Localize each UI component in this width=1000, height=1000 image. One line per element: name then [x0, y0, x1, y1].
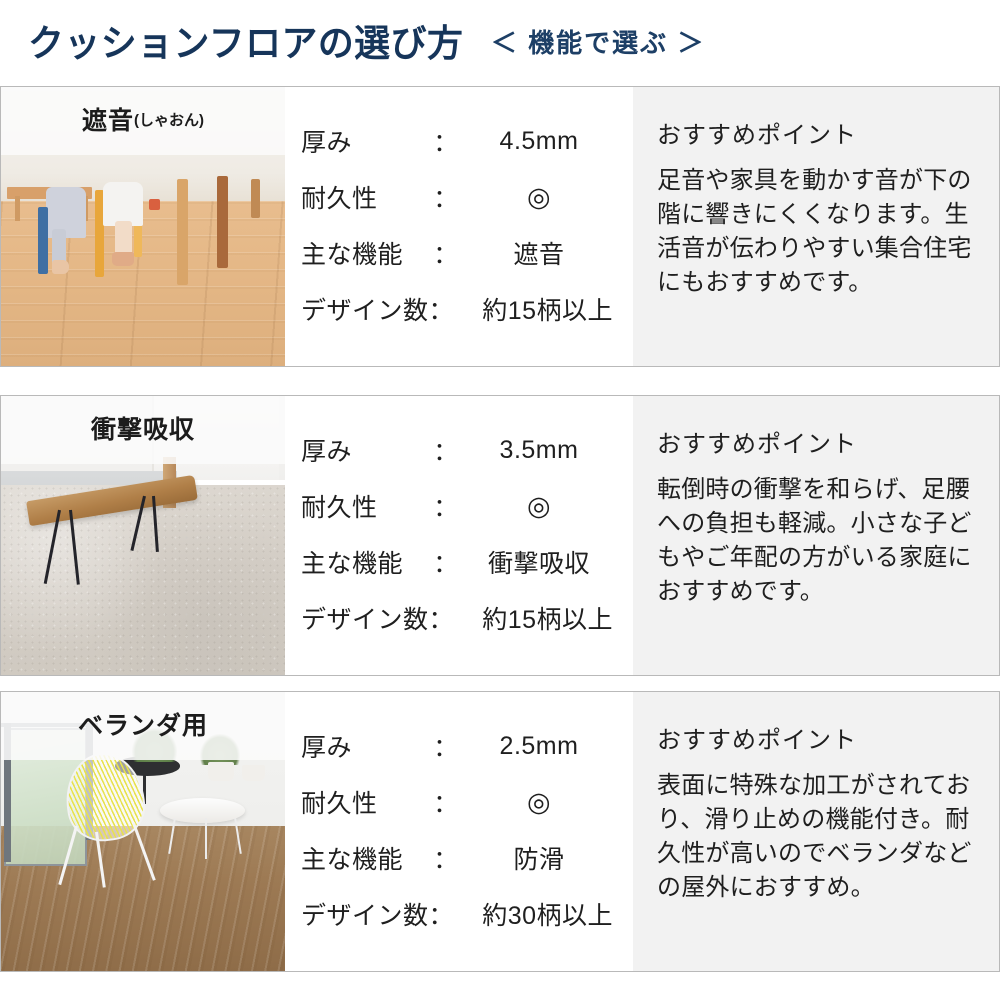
child-foot-right	[112, 252, 135, 266]
spec-value-design-count: 約30柄以上	[454, 896, 617, 932]
spec-colon: ：	[431, 235, 461, 271]
recommendation-body: 表面に特殊な加工がされており、滑り止めの機能付き。耐久性が高いのでベランダなどの…	[657, 769, 973, 905]
recommendation-title: おすすめポイント	[657, 115, 973, 150]
spec-row-durability: 耐久性 ： ◎	[301, 774, 617, 830]
spec-value-main-function: 防滑	[461, 840, 617, 876]
spec-key-thickness: 厚み	[301, 728, 431, 764]
spec-list-veranda: 厚み ： 2.5mm 耐久性 ： ◎ 主な機能 ： 防滑 デザイン数 ： 約30…	[285, 692, 633, 971]
recommendation-body: 転倒時の衝撃を和らげ、足腰への負担も軽減。小さな子どもやご年配の方がいる家庭にお…	[657, 473, 973, 609]
spec-colon: ：	[429, 600, 455, 636]
spec-key-design-count: デザイン数	[301, 600, 429, 636]
plant-pot	[208, 762, 234, 782]
table-leg	[177, 179, 188, 285]
card-label-band: 遮音 (しゃおん)	[1, 87, 285, 155]
card-photo-veranda: ベランダ用	[1, 692, 285, 971]
spec-row-main-function: 主な機能 ： 衝撃吸収	[301, 534, 617, 590]
page-header: クッションフロアの選び方 ＜ 機能で選ぶ ＞	[0, 0, 1000, 86]
recommendation-title: おすすめポイント	[657, 424, 973, 459]
spec-key-main-function: 主な機能	[301, 840, 431, 876]
spec-value-thickness: 2.5mm	[461, 732, 617, 761]
double-circle-icon: ◎	[461, 789, 617, 816]
red-object	[149, 199, 160, 210]
card-label-band: 衝撃吸収	[1, 396, 285, 464]
double-circle-icon: ◎	[461, 184, 617, 211]
round-table-leg	[205, 818, 207, 860]
child-foot-left	[52, 260, 69, 274]
spec-list-shaon: 厚み ： 4.5mm 耐久性 ： ◎ 主な機能 ： 遮音 デザイン数 ： 約15…	[285, 87, 633, 366]
spec-value-thickness: 4.5mm	[461, 127, 617, 156]
spec-row-thickness: 厚み ： 3.5mm	[301, 422, 617, 478]
spec-colon: ：	[431, 123, 461, 159]
table-leg	[217, 176, 228, 268]
spec-value-design-count: 約15柄以上	[454, 600, 617, 636]
product-card-veranda[interactable]: ベランダ用 厚み ： 2.5mm 耐久性 ： ◎ 主な機能 ： 防滑 デザイン数…	[0, 691, 1000, 972]
spec-row-thickness: 厚み ： 4.5mm	[301, 113, 617, 169]
table-leg	[251, 179, 260, 218]
spec-row-durability: 耐久性 ： ◎	[301, 169, 617, 225]
spec-colon: ：	[429, 291, 455, 327]
spec-key-durability: 耐久性	[301, 784, 431, 820]
spec-colon: ：	[431, 544, 461, 580]
spec-row-thickness: 厚み ： 2.5mm	[301, 718, 617, 774]
spec-row-main-function: 主な機能 ： 遮音	[301, 225, 617, 281]
product-card-shock-absorption[interactable]: 衝撃吸収 厚み ： 3.5mm 耐久性 ： ◎ 主な機能 ： 衝撃吸収 デザイン…	[0, 395, 1000, 676]
spec-key-main-function: 主な機能	[301, 235, 431, 271]
spec-colon: ：	[431, 840, 461, 876]
spec-list-shock-absorption: 厚み ： 3.5mm 耐久性 ： ◎ 主な機能 ： 衝撃吸収 デザイン数 ： 約…	[285, 396, 633, 675]
spec-row-design-count: デザイン数 ： 約15柄以上	[301, 281, 617, 337]
recommendation-title: おすすめポイント	[657, 720, 973, 755]
product-card-shaon[interactable]: 遮音 (しゃおん) 厚み ： 4.5mm 耐久性 ： ◎ 主な機能 ： 遮音 デ…	[0, 86, 1000, 367]
spec-row-design-count: デザイン数 ： 約30柄以上	[301, 886, 617, 942]
card-label-main: 遮音	[82, 101, 134, 137]
blue-chair-leg	[38, 207, 48, 274]
spec-row-main-function: 主な機能 ： 防滑	[301, 830, 617, 886]
spec-key-main-function: 主な機能	[301, 544, 431, 580]
card-label-band: ベランダ用	[1, 692, 285, 760]
spec-colon: ：	[431, 728, 461, 764]
plant-pot	[242, 765, 265, 782]
recommendation-panel-veranda: おすすめポイント 表面に特殊な加工がされており、滑り止めの機能付き。耐久性が高い…	[633, 692, 999, 971]
spec-colon: ：	[431, 179, 461, 215]
spec-key-design-count: デザイン数	[301, 291, 429, 327]
spec-colon: ：	[429, 896, 455, 932]
spec-colon: ：	[431, 784, 461, 820]
spec-colon: ：	[431, 488, 461, 524]
spec-key-thickness: 厚み	[301, 123, 431, 159]
card-label-main: ベランダ用	[78, 706, 208, 742]
card-photo-shaon: 遮音 (しゃおん)	[1, 87, 285, 366]
background-table-leg	[15, 196, 20, 221]
spec-value-main-function: 衝撃吸収	[461, 544, 617, 580]
spec-key-durability: 耐久性	[301, 179, 431, 215]
recommendation-panel-shaon: おすすめポイント 足音や家具を動かす音が下の階に響きにくくなります。生活音が伝わ…	[633, 87, 999, 366]
spec-row-design-count: デザイン数 ： 約15柄以上	[301, 590, 617, 646]
spec-value-main-function: 遮音	[461, 235, 617, 271]
spec-value-thickness: 3.5mm	[461, 436, 617, 465]
spec-value-design-count: 約15柄以上	[454, 291, 617, 327]
spec-row-durability: 耐久性 ： ◎	[301, 478, 617, 534]
page-subtitle: ＜ 機能で選ぶ ＞	[491, 30, 705, 56]
recommendation-body: 足音や家具を動かす音が下の階に響きにくくなります。生活音が伝わりやすい集合住宅に…	[657, 164, 973, 300]
double-circle-icon: ◎	[461, 493, 617, 520]
page-title: クッションフロアの選び方	[28, 25, 463, 62]
card-label-furigana: (しゃおん)	[134, 109, 204, 130]
card-photo-shock-absorption: 衝撃吸収	[1, 396, 285, 675]
spec-key-design-count: デザイン数	[301, 896, 429, 932]
child-torso-right	[103, 182, 143, 227]
spec-colon: ：	[431, 432, 461, 468]
card-label-main: 衝撃吸収	[91, 410, 195, 446]
spec-key-durability: 耐久性	[301, 488, 431, 524]
recommendation-panel-shock-absorption: おすすめポイント 転倒時の衝撃を和らげ、足腰への負担も軽減。小さな子どもやご年配…	[633, 396, 999, 675]
spec-key-thickness: 厚み	[301, 432, 431, 468]
